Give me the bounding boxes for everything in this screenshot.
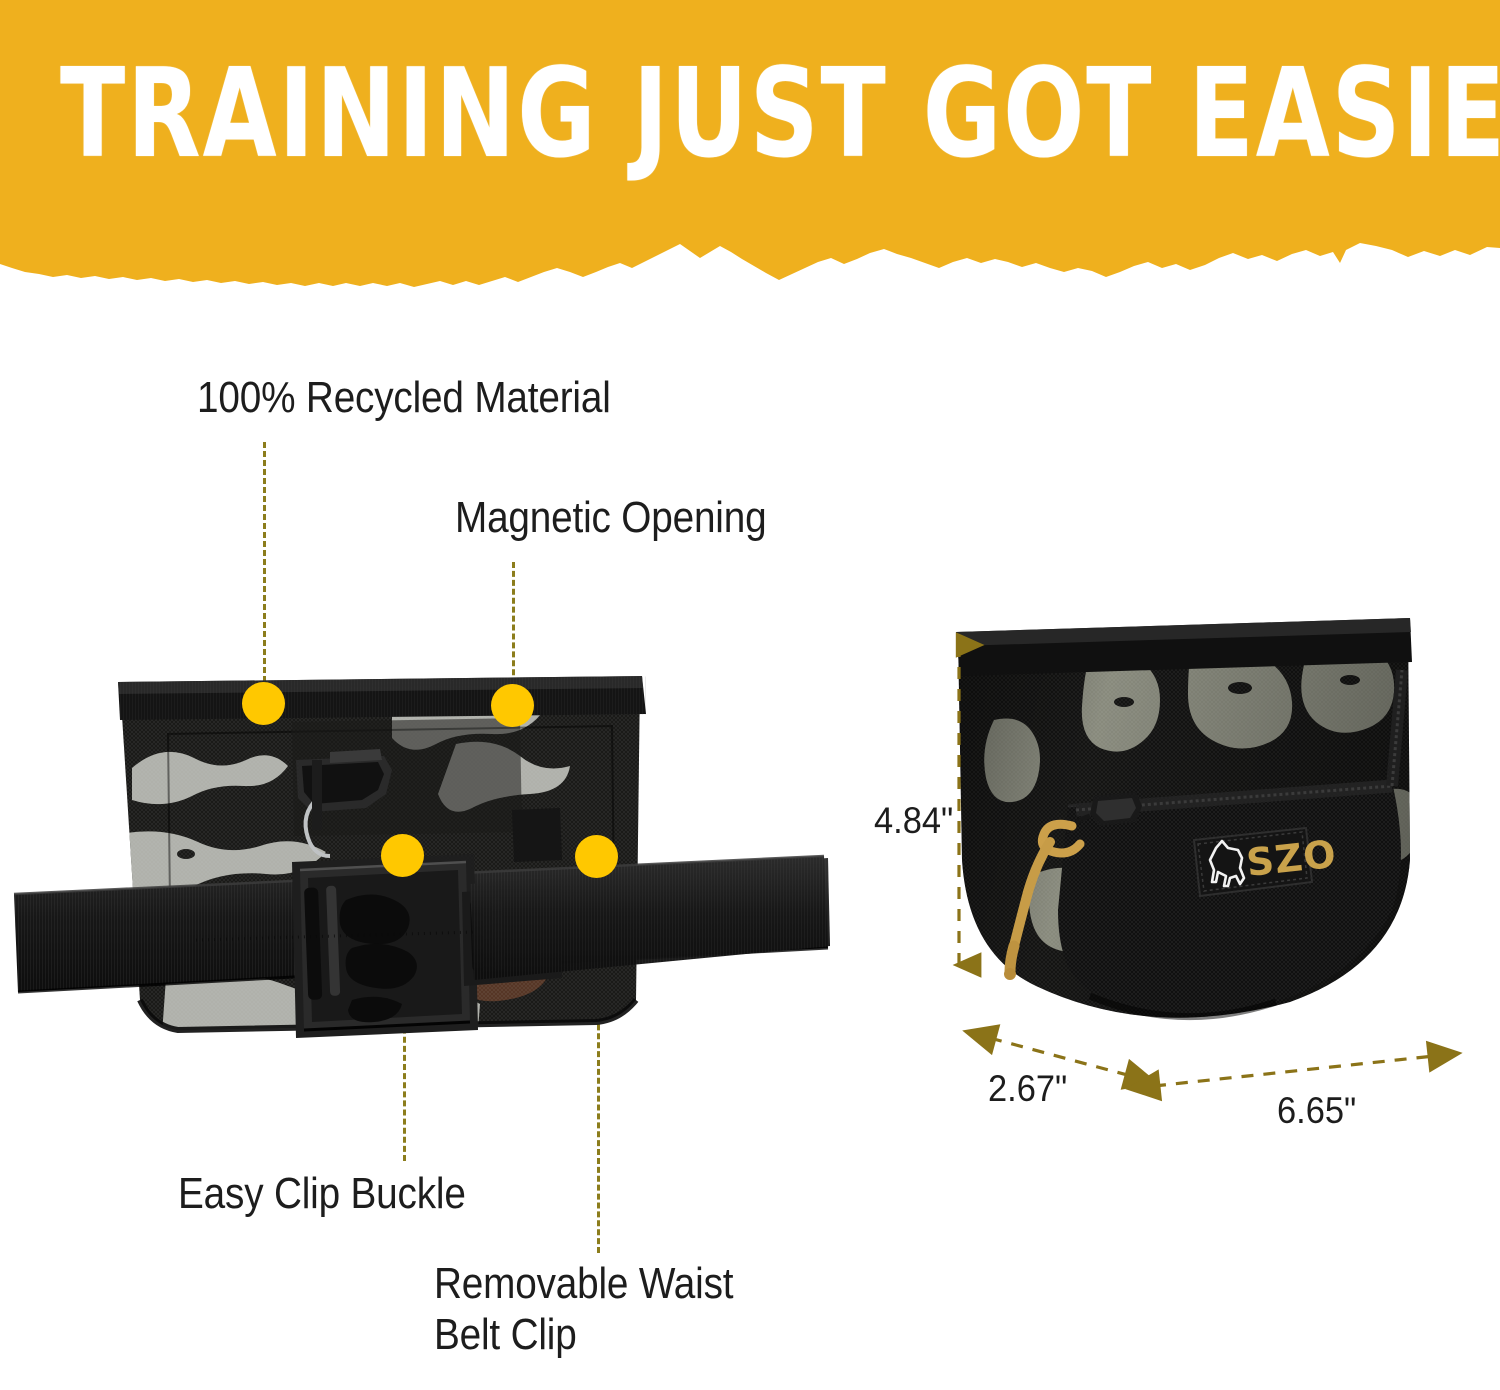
hotspot-dot-waist-belt[interactable] [575,835,618,878]
callout-label-buckle: Easy Clip Buckle [178,1168,466,1219]
hotspot-dot-buckle[interactable] [381,834,424,877]
callout-label-waist-belt: Removable Waist Belt Clip [434,1258,733,1361]
dimension-label-width: 6.65" [1277,1090,1356,1132]
product-infographic: TRAINING JUST GOT EASIER 100% Recycled M… [0,0,1500,1390]
hotspot-dot-recycled[interactable] [242,682,285,725]
banner-title: TRAINING JUST GOT EASIER [60,52,1440,175]
callout-label-recycled: 100% Recycled Material [197,372,611,423]
product-image-angled: SZO [940,610,1450,1040]
svg-text:SZO: SZO [1244,832,1338,885]
dimension-label-height: 4.84" [874,800,953,842]
dimension-line-width [1154,1056,1434,1086]
callout-label-magnetic: Magnetic Opening [455,492,766,543]
dimension-label-depth: 2.67" [988,1068,1067,1110]
hotspot-dot-magnetic[interactable] [491,684,534,727]
header-banner: TRAINING JUST GOT EASIER [0,0,1500,290]
